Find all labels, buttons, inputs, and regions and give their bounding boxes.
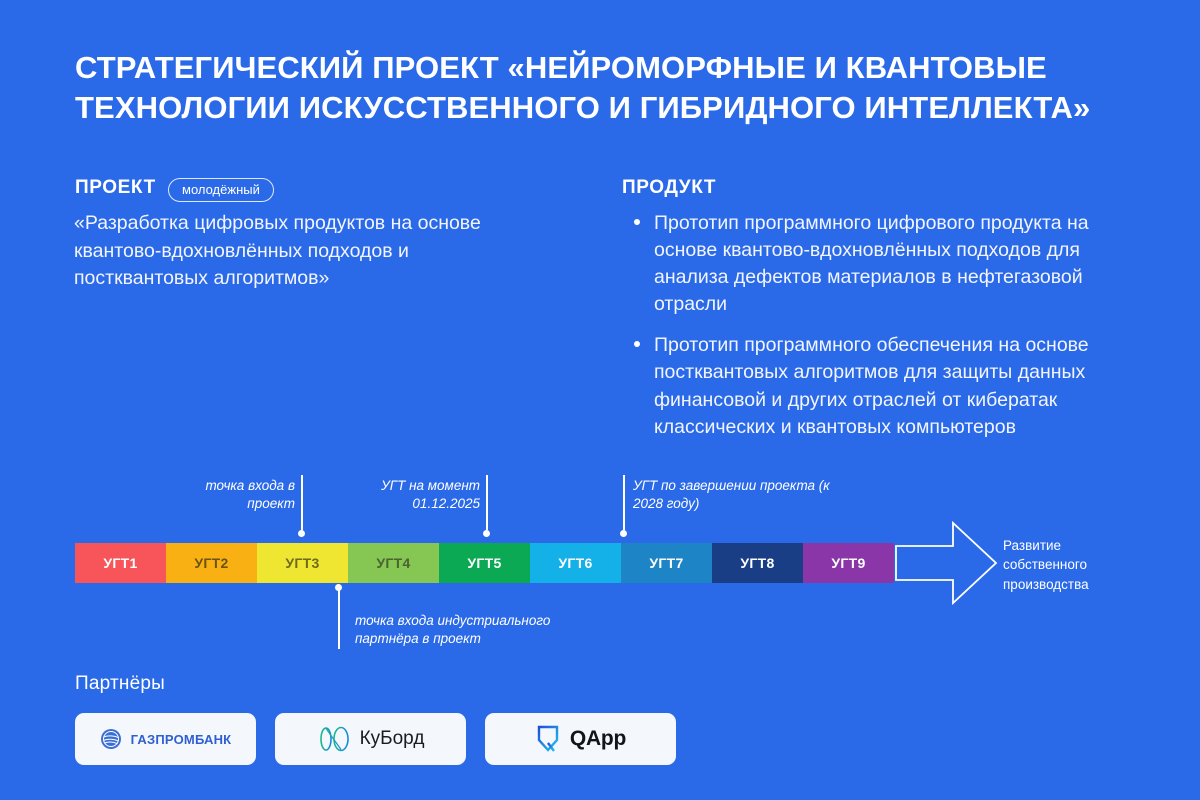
qapp-shield-icon	[535, 724, 561, 754]
list-item: Прототип программного цифрового продукта…	[631, 210, 1131, 318]
partner-card-qapp[interactable]: QApp	[485, 713, 676, 765]
arrow-right-icon	[895, 518, 1000, 608]
production-arrow	[895, 518, 1000, 608]
trl-segment: УГТ8	[712, 543, 803, 583]
product-heading: ПРОДУКТ	[622, 177, 716, 199]
bullet-icon	[634, 341, 640, 347]
partner-name: КуБорд	[360, 728, 425, 750]
slide-root: СТРАТЕГИЧЕСКИЙ ПРОЕКТ «НЕЙРОМОРФНЫЕ И КВ…	[0, 0, 1200, 800]
project-heading: ПРОЕКТ	[75, 177, 156, 199]
trl-segment: УГТ2	[166, 543, 257, 583]
annotation-current-trl: УГТ на момент 01.12.2025	[330, 477, 480, 513]
project-badge: молодёжный	[168, 178, 274, 202]
trl-segment: УГТ4	[348, 543, 439, 583]
trl-segment: УГТ9	[803, 543, 894, 583]
partners-row: ГАЗПРОМБАНК КуБорд	[75, 713, 676, 765]
trl-segment: УГТ5	[439, 543, 530, 583]
partner-card-kubord[interactable]: КуБорд	[275, 713, 466, 765]
partner-name: QApp	[570, 727, 626, 751]
list-item: Прототип программного обеспечения на осн…	[631, 332, 1131, 440]
page-title: СТРАТЕГИЧЕСКИЙ ПРОЕКТ «НЕЙРОМОРФНЫЕ И КВ…	[75, 48, 1140, 127]
trl-segment: УГТ1	[75, 543, 166, 583]
kubord-bowtie-icon	[317, 725, 351, 753]
trl-scale-bar: УГТ1УГТ2УГТ3УГТ4УГТ5УГТ6УГТ7УГТ8УГТ9	[75, 543, 894, 583]
annotation-text: УГТ на момент 01.12.2025	[381, 478, 480, 511]
annotation-entry-point: точка входа в проект	[170, 477, 295, 513]
connector-dot	[483, 530, 490, 537]
project-description: «Разработка цифровых продуктов на основе…	[74, 210, 544, 293]
product-item-text: Прототип программного обеспечения на осн…	[654, 334, 1089, 437]
trl-segment: УГТ3	[257, 543, 348, 583]
connector-line	[338, 587, 340, 649]
annotation-industrial-partner: точка входа индустриального партнёра в п…	[355, 612, 555, 648]
annotation-text: точка входа в проект	[205, 478, 295, 511]
connector-dot	[335, 584, 342, 591]
trl-segment: УГТ6	[530, 543, 621, 583]
partner-card-gazprombank[interactable]: ГАЗПРОМБАНК	[75, 713, 256, 765]
connector-line	[301, 475, 303, 530]
product-item-text: Прототип программного цифрового продукта…	[654, 212, 1089, 315]
gazprombank-globe-icon	[100, 728, 122, 750]
annotation-text: УГТ по завершении проекта (к 2028 году)	[633, 478, 830, 511]
annotation-target-trl: УГТ по завершении проекта (к 2028 году)	[633, 477, 863, 513]
product-list: Прототип программного цифрового продукта…	[631, 210, 1131, 455]
annotation-text: точка входа индустриального партнёра в п…	[355, 613, 550, 646]
connector-line	[623, 475, 625, 530]
arrow-label: Развитие собственного производства	[1003, 536, 1133, 594]
connector-dot	[298, 530, 305, 537]
bullet-icon	[634, 219, 640, 225]
partners-heading: Партнёры	[75, 673, 165, 695]
connector-line	[486, 475, 488, 530]
connector-dot	[620, 530, 627, 537]
partner-name: ГАЗПРОМБАНК	[131, 732, 232, 747]
trl-segment: УГТ7	[621, 543, 712, 583]
